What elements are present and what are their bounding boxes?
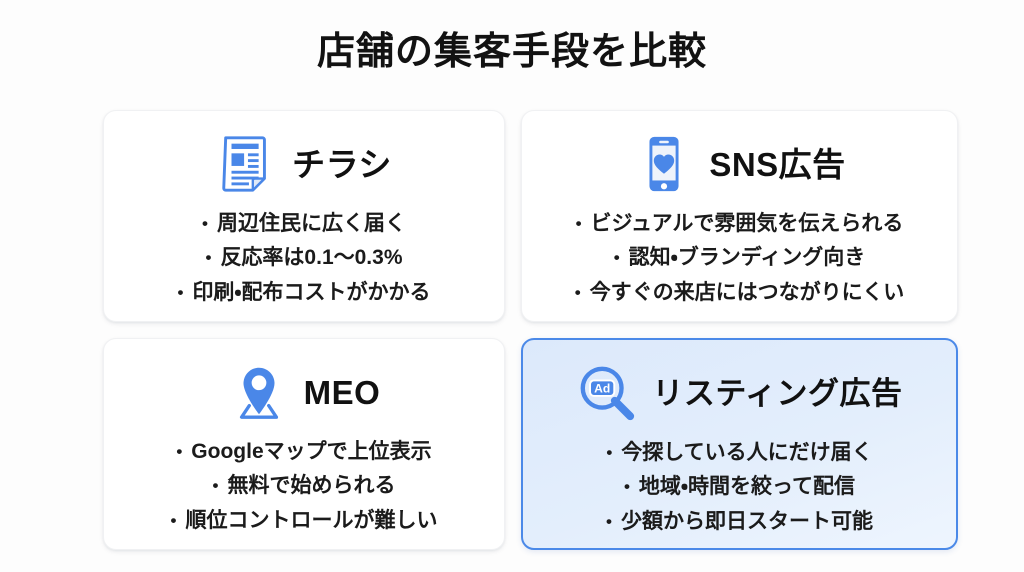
bullet-text: 無料で始められる bbox=[227, 471, 395, 501]
list-item: •順位コントロールが難しい bbox=[171, 506, 438, 536]
card-title: リスティング広告 bbox=[652, 378, 902, 409]
bullet-text: 今すぐの来店にはつながりにくい bbox=[590, 278, 905, 308]
page-title: 店舗の集客手段を比較 bbox=[0, 30, 1024, 76]
list-item: •ビジュアルで雰囲気を伝えられる bbox=[576, 209, 904, 239]
card-header: チラシ bbox=[120, 125, 488, 203]
bullet-text: 認知・ブランディング向き bbox=[629, 243, 866, 273]
card-body: •ビジュアルで雰囲気を伝えられる •認知・ブランディング向き •今すぐの来店には… bbox=[538, 203, 941, 308]
bullet-dot-icon: • bbox=[202, 215, 208, 232]
bullet-text: Googleマップで上位表示 bbox=[191, 437, 431, 467]
card-sns-ads[interactable]: SNS広告 •ビジュアルで雰囲気を伝えられる •認知・ブランディング向き •今す… bbox=[521, 110, 958, 322]
card-meo[interactable]: MEO •Googleマップで上位表示 •無料で始められる •順位コントロールが… bbox=[103, 338, 505, 550]
list-item: •周辺住民に広く届く bbox=[202, 209, 406, 239]
list-item: •今探している人にだけ届く bbox=[606, 438, 872, 468]
card-flyer[interactable]: チラシ •周辺住民に広く届く •反応率は0.1〜0.3% •印刷・配布コストがか… bbox=[103, 110, 505, 322]
bullet-text: ビジュアルで雰囲気を伝えられる bbox=[591, 209, 904, 239]
bullet-dot-icon: • bbox=[606, 513, 612, 530]
list-item: •Googleマップで上位表示 bbox=[176, 437, 431, 467]
comparison-card-grid: チラシ •周辺住民に広く届く •反応率は0.1〜0.3% •印刷・配布コストがか… bbox=[103, 110, 958, 550]
bullet-list: •ビジュアルで雰囲気を伝えられる •認知・ブランディング向き •今すぐの来店には… bbox=[538, 209, 941, 308]
bullet-list: •周辺住民に広く届く •反応率は0.1〜0.3% •印刷・配布コストがかかる bbox=[120, 209, 488, 308]
slide-root: 店舗の集客手段を比較 チラシ bbox=[0, 0, 1024, 572]
list-item: •認知・ブランディング向き bbox=[614, 243, 866, 273]
card-title: SNS広告 bbox=[709, 148, 845, 181]
bullet-dot-icon: • bbox=[576, 215, 582, 232]
ad-badge-label: Ad bbox=[595, 381, 611, 395]
bullet-dot-icon: • bbox=[176, 443, 182, 460]
list-item: •今すぐの来店にはつながりにくい bbox=[575, 278, 905, 308]
flyer-document-icon bbox=[216, 133, 278, 195]
bullet-dot-icon: • bbox=[213, 477, 219, 494]
bullet-text: 周辺住民に広く届く bbox=[217, 209, 406, 239]
card-listing-ads[interactable]: Ad リスティング広告 •今探している人にだけ届く •地域・時間を絞って配信 •… bbox=[521, 338, 958, 550]
bullet-dot-icon: • bbox=[624, 478, 630, 495]
card-title: MEO bbox=[304, 376, 381, 409]
card-header: MEO bbox=[120, 353, 488, 431]
bullet-text: 順位コントロールが難しい bbox=[185, 506, 437, 536]
list-item: •地域・時間を絞って配信 bbox=[624, 472, 855, 502]
bullet-dot-icon: • bbox=[177, 284, 183, 301]
list-item: •反応率は0.1〜0.3% bbox=[205, 243, 402, 273]
bullet-dot-icon: • bbox=[171, 512, 177, 529]
card-header: SNS広告 bbox=[538, 125, 941, 203]
ad-magnifier-icon: Ad bbox=[576, 362, 638, 424]
bullet-text: 印刷・配布コストがかかる bbox=[192, 278, 430, 308]
list-item: •無料で始められる bbox=[213, 471, 396, 501]
bullet-dot-icon: • bbox=[606, 444, 612, 461]
bullet-dot-icon: • bbox=[614, 249, 620, 266]
card-body: •今探している人にだけ届く •地域・時間を絞って配信 •少額から即日スタート可能 bbox=[539, 432, 940, 537]
bullet-dot-icon: • bbox=[575, 284, 581, 301]
card-body: •Googleマップで上位表示 •無料で始められる •順位コントロールが難しい bbox=[120, 431, 488, 536]
card-header: Ad リスティング広告 bbox=[539, 354, 940, 432]
smartphone-heart-icon bbox=[633, 133, 695, 195]
list-item: •印刷・配布コストがかかる bbox=[177, 278, 430, 308]
card-body: •周辺住民に広く届く •反応率は0.1〜0.3% •印刷・配布コストがかかる bbox=[120, 203, 488, 308]
bullet-list: •Googleマップで上位表示 •無料で始められる •順位コントロールが難しい bbox=[120, 437, 488, 536]
bullet-text: 今探している人にだけ届く bbox=[621, 438, 872, 468]
list-item: •少額から即日スタート可能 bbox=[606, 507, 873, 537]
card-title: チラシ bbox=[292, 148, 392, 181]
map-pin-icon bbox=[228, 361, 290, 423]
bullet-text: 少額から即日スタート可能 bbox=[621, 507, 873, 537]
bullet-dot-icon: • bbox=[205, 249, 211, 266]
bullet-text: 地域・時間を絞って配信 bbox=[639, 472, 855, 502]
bullet-text: 反応率は0.1〜0.3% bbox=[220, 243, 402, 273]
bullet-list: •今探している人にだけ届く •地域・時間を絞って配信 •少額から即日スタート可能 bbox=[539, 438, 940, 537]
